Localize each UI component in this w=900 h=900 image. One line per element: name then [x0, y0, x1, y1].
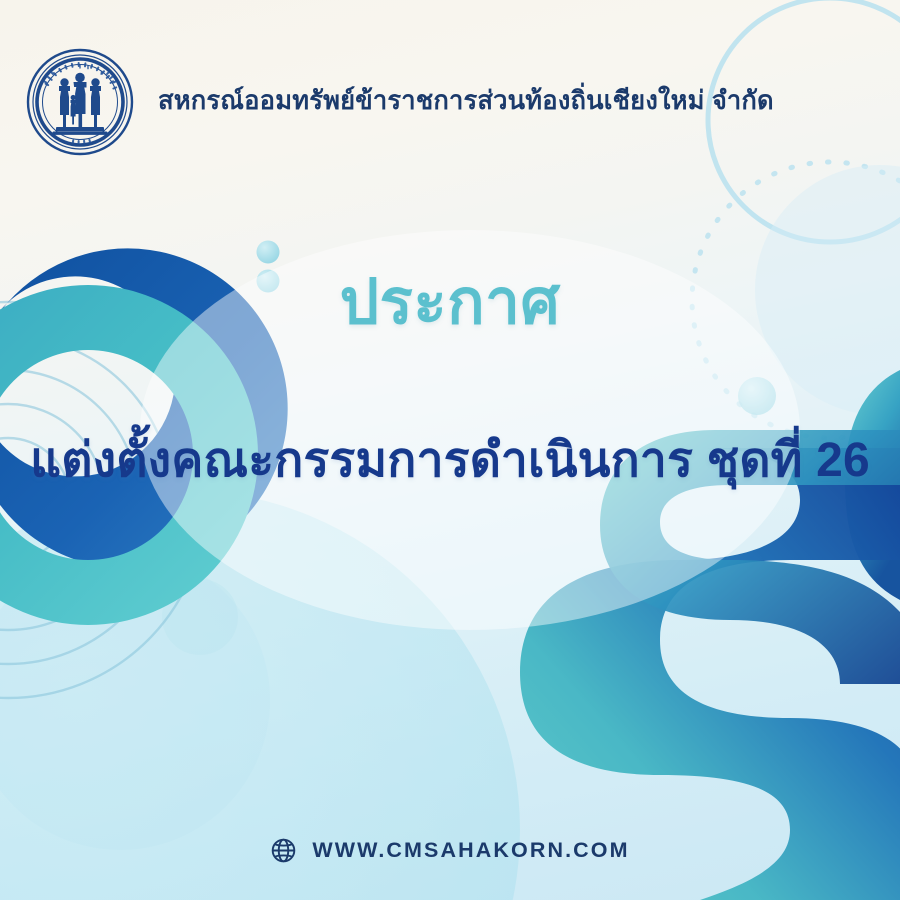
globe-icon [270, 837, 297, 864]
announcement-subject: แต่งตั้งคณะกรรมการดำเนินการ ชุดที่ 26 [0, 432, 900, 490]
announcement-label: ประกาศ [0, 268, 900, 337]
poster-header: สหกรณ์ออมทรัพย์ข้าราชการส่วนท้องถิ่นเชีย… [26, 46, 860, 158]
soft-circle-mid-left [0, 550, 270, 850]
cooperative-seal-logo [26, 48, 134, 156]
announcement-poster: สหกรณ์ออมทรัพย์ข้าราชการส่วนท้องถิ่นเชีย… [0, 0, 900, 900]
organization-name: สหกรณ์ออมทรัพย์ข้าราชการส่วนท้องถิ่นเชีย… [158, 87, 774, 116]
soft-circle-small-left [162, 579, 238, 655]
bubble-upper-1 [257, 241, 280, 264]
announcement-title-block: ประกาศ [0, 268, 900, 337]
wave-ribbon-bottom-right [520, 448, 900, 900]
three-figures-emblem [53, 73, 108, 135]
bubble-right [738, 377, 776, 415]
poster-footer: WWW.CMSAHAKORN.COM [0, 837, 900, 864]
concentric-rings-left [0, 302, 206, 698]
website-url[interactable]: WWW.CMSAHAKORN.COM [312, 838, 629, 863]
